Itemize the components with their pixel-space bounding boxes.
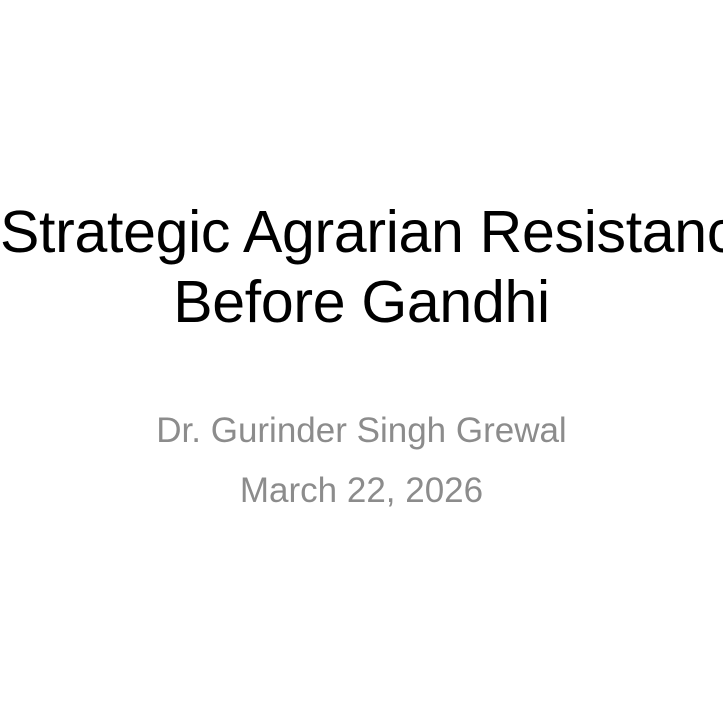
title-line-1: Strategic Agrarian Resistance [0,197,723,267]
subtitle-date: March 22, 2026 [0,461,723,521]
slide-subtitle[interactable]: Dr. Gurinder Singh Grewal March 22, 2026 [0,337,723,521]
slide-title[interactable]: Strategic Agrarian Resistance Before Gan… [0,197,723,337]
subtitle-presenter-name: Dr. Gurinder Singh Grewal [0,401,723,461]
slide-content-area: Strategic Agrarian Resistance Before Gan… [0,0,723,717]
presentation-slide: Strategic Agrarian Resistance Before Gan… [0,0,723,717]
title-line-2: Before Gandhi [0,267,723,337]
